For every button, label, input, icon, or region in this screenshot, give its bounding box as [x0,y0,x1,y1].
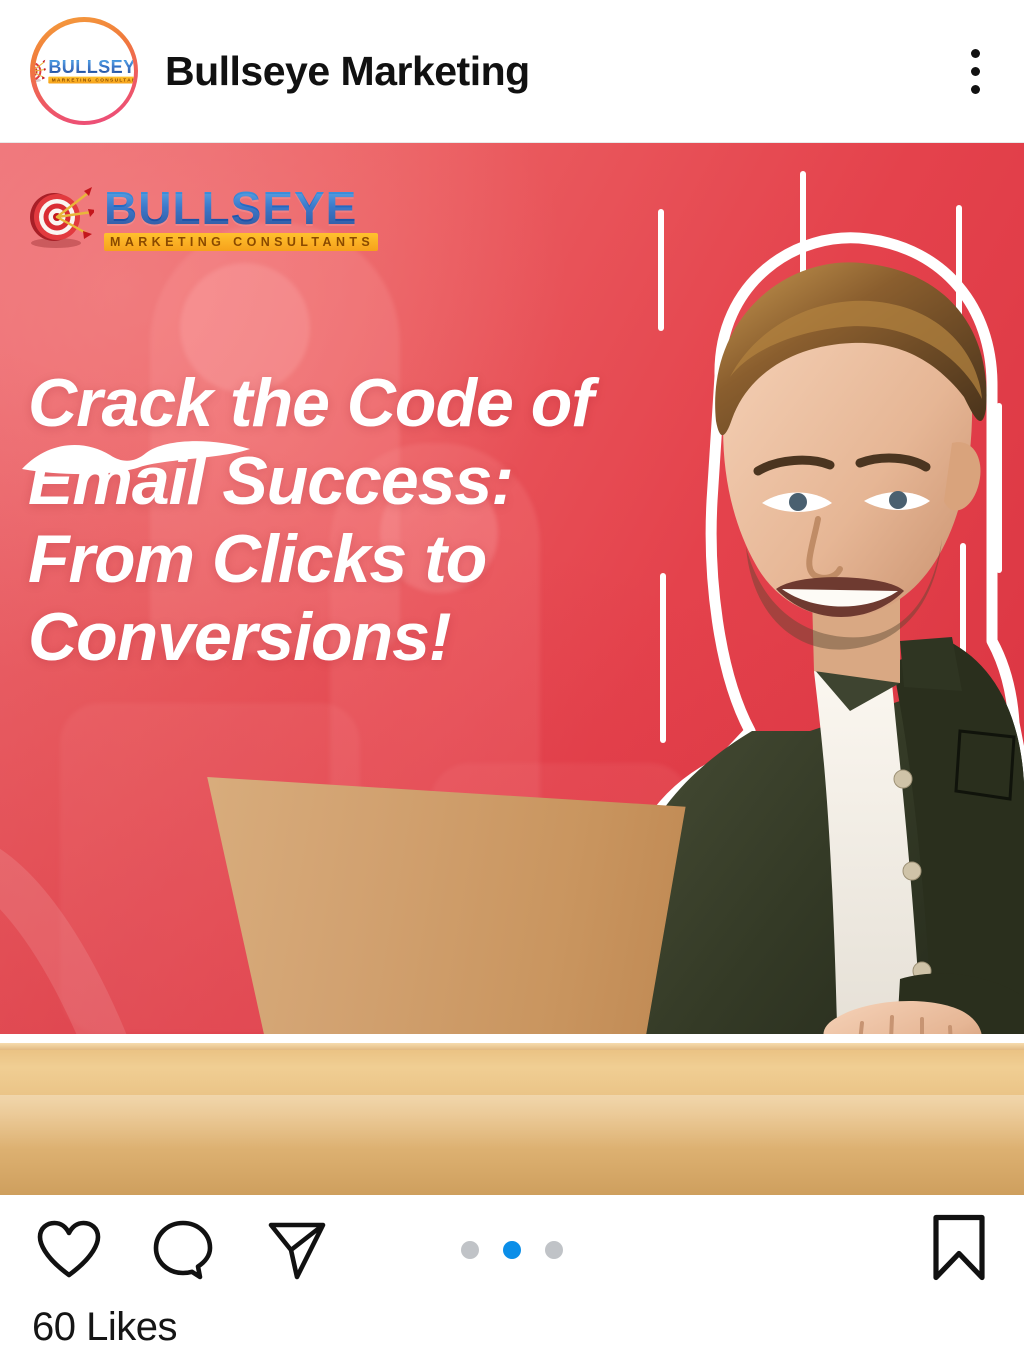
carousel-dot-3[interactable] [545,1241,563,1259]
headline-line-1: Crack the Code of [28,364,668,442]
likes-count: 60 Likes [32,1305,177,1350]
carousel-dot-1[interactable] [461,1241,479,1259]
bullseye-target-icon [28,187,94,249]
bullseye-target-icon [35,59,46,83]
instagram-post-card: BULLSEYE MARKETING CONSULTANTS Bullseye … [0,0,1024,1363]
kebab-menu-icon[interactable] [958,41,992,101]
comment-bubble-icon[interactable] [146,1213,220,1287]
post-headline: Crack the Code of Email Success: From Cl… [28,364,668,676]
share-paper-plane-icon[interactable] [260,1213,334,1287]
wooden-desk [0,1043,1024,1195]
avatar[interactable]: BULLSEYE MARKETING CONSULTANTS [30,17,138,125]
post-logo-word: BULLSEYE [104,185,378,231]
heart-icon[interactable] [32,1213,106,1287]
avatar-logo-word: BULLSEYE [48,59,133,76]
account-username[interactable]: Bullseye Marketing [165,48,530,95]
post-logo-subtitle: MARKETING CONSULTANTS [104,233,378,251]
bookmark-icon[interactable] [928,1214,990,1287]
post-action-bar [0,1195,1024,1305]
panel-bottom-edge [0,1034,1024,1043]
carousel-dot-2[interactable] [503,1241,521,1259]
post-image[interactable]: BULLSEYE MARKETING CONSULTANTS Crack the… [0,143,1024,1195]
post-header: BULLSEYE MARKETING CONSULTANTS Bullseye … [0,0,1024,143]
post-brand-logo: BULLSEYE MARKETING CONSULTANTS [28,185,378,251]
avatar-image: BULLSEYE MARKETING CONSULTANTS [35,22,134,121]
avatar-logo-subtitle: MARKETING CONSULTANTS [48,77,133,84]
headline-underline-squiggle [14,433,264,479]
headline-line-3: From Clicks to [28,520,668,598]
carousel-dots [461,1241,563,1259]
headline-line-4: Conversions! [28,598,668,676]
avatar-bullseye-logo: BULLSEYE MARKETING CONSULTANTS [35,59,134,84]
